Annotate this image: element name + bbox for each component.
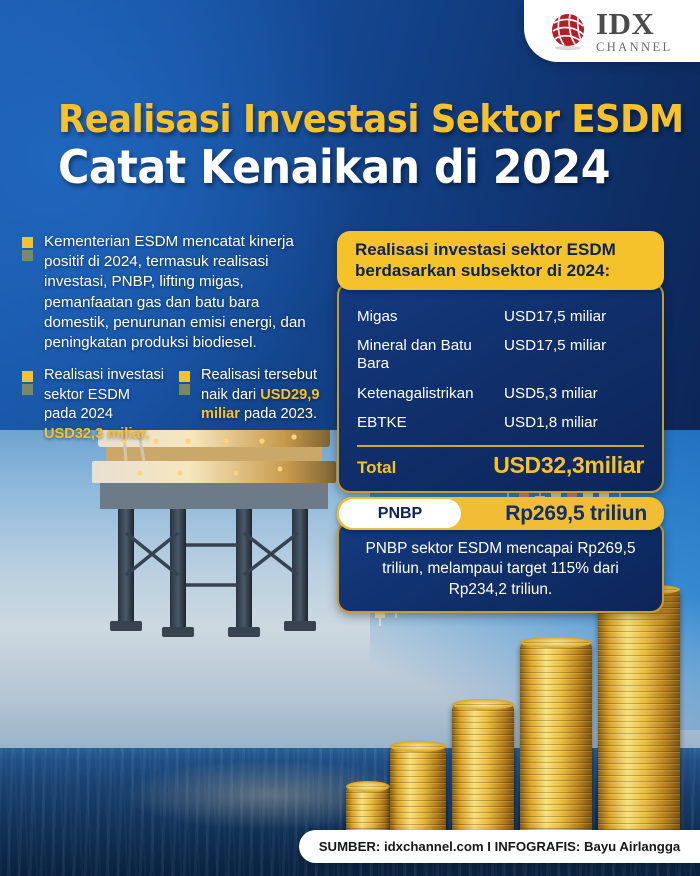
bullet-columns: Realisasi investasi sektor ESDM pada 202… bbox=[22, 366, 322, 444]
bullet-left-pre: Realisasi investasi sektor ESDM pada 202… bbox=[44, 367, 164, 422]
title-line-1: Realisasi Investasi Sektor ESDM bbox=[58, 100, 616, 138]
total-label: Total bbox=[357, 458, 493, 478]
pnbp-description: PNBP sektor ESDM mencapai Rp269,5 triliu… bbox=[337, 521, 664, 613]
pnbp-label-badge: PNBP bbox=[339, 499, 461, 528]
table-row: Migas USD17,5 miliar bbox=[357, 302, 644, 331]
row-value: USD17,5 miliar bbox=[498, 332, 644, 379]
bullet-right-text: Realisasi tersebut naik dari USD29,9 mil… bbox=[201, 366, 322, 444]
subsektor-table: Migas USD17,5 miliar Mineral dan Batu Ba… bbox=[357, 302, 644, 437]
bullet-marker-icon bbox=[22, 366, 33, 444]
logo-wordmark: IDX CHANNEL bbox=[596, 8, 673, 54]
table-row: Mineral dan Batu Bara USD17,5 miliar bbox=[357, 332, 644, 379]
bullet-marker-icon bbox=[22, 232, 33, 353]
title-line-2: Catat Kenaikan di 2024 bbox=[58, 144, 616, 190]
table-row: EBTKE USD1,8 miliar bbox=[357, 408, 644, 437]
logo-channel-text: CHANNEL bbox=[596, 41, 673, 54]
source-footer: SUMBER: idxchannel.com I INFOGRAFIS: Bay… bbox=[299, 830, 700, 863]
bullet-item-right: Realisasi tersebut naik dari USD29,9 mil… bbox=[179, 366, 322, 444]
bullet-item-main: Kementerian ESDM mencatat kinerja positi… bbox=[22, 232, 322, 353]
row-value: USD5,3 miliar bbox=[498, 379, 644, 408]
row-label: Mineral dan Batu Bara bbox=[357, 332, 498, 379]
pnbp-panel: PNBP Rp269,5 triliun PNBP sektor ESDM me… bbox=[337, 497, 664, 613]
page-title: Realisasi Investasi Sektor ESDM Catat Ke… bbox=[58, 100, 658, 190]
logo-idx-text: IDX bbox=[596, 8, 673, 39]
row-value: USD1,8 miliar bbox=[498, 408, 644, 437]
oil-rig-illustration bbox=[40, 430, 360, 665]
bullet-item-left: Realisasi investasi sektor ESDM pada 202… bbox=[22, 366, 165, 444]
bullet-right-post: pada 2023. bbox=[240, 406, 317, 422]
idx-channel-logo: IDX CHANNEL bbox=[524, 0, 700, 62]
pnbp-header-bar: PNBP Rp269,5 triliun bbox=[337, 497, 664, 530]
row-label: Migas bbox=[357, 302, 498, 331]
table-row: Ketenagalistrikan USD5,3 miliar bbox=[357, 379, 644, 408]
row-label: Ketenagalistrikan bbox=[357, 379, 498, 408]
bullet-marker-icon bbox=[179, 366, 190, 444]
idx-globe-icon bbox=[548, 11, 588, 51]
row-label: EBTKE bbox=[357, 408, 498, 437]
bullet-left-highlight: USD32,3 miliar. bbox=[44, 426, 149, 442]
bullet-list: Kementerian ESDM mencatat kinerja positi… bbox=[22, 232, 322, 445]
bullet-left-text: Realisasi investasi sektor ESDM pada 202… bbox=[44, 366, 165, 444]
total-divider bbox=[357, 445, 644, 447]
row-value: USD17,5 miliar bbox=[498, 302, 644, 331]
subsektor-table-body: Migas USD17,5 miliar Mineral dan Batu Ba… bbox=[357, 302, 644, 437]
subsektor-panel-heading: Realisasi investasi sektor ESDM berdasar… bbox=[337, 231, 664, 290]
bullet-main-text: Kementerian ESDM mencatat kinerja positi… bbox=[44, 232, 322, 353]
pnbp-amount: Rp269,5 triliun bbox=[505, 502, 647, 526]
subsektor-panel-body: Migas USD17,5 miliar Mineral dan Batu Ba… bbox=[337, 282, 664, 492]
infographic-poster: IDX CHANNEL Realisasi Investasi Sektor E… bbox=[0, 0, 700, 876]
subsektor-panel: Realisasi investasi sektor ESDM berdasar… bbox=[337, 231, 664, 493]
total-row: Total USD32,3miliar bbox=[357, 452, 644, 479]
total-value: USD32,3miliar bbox=[493, 452, 644, 479]
